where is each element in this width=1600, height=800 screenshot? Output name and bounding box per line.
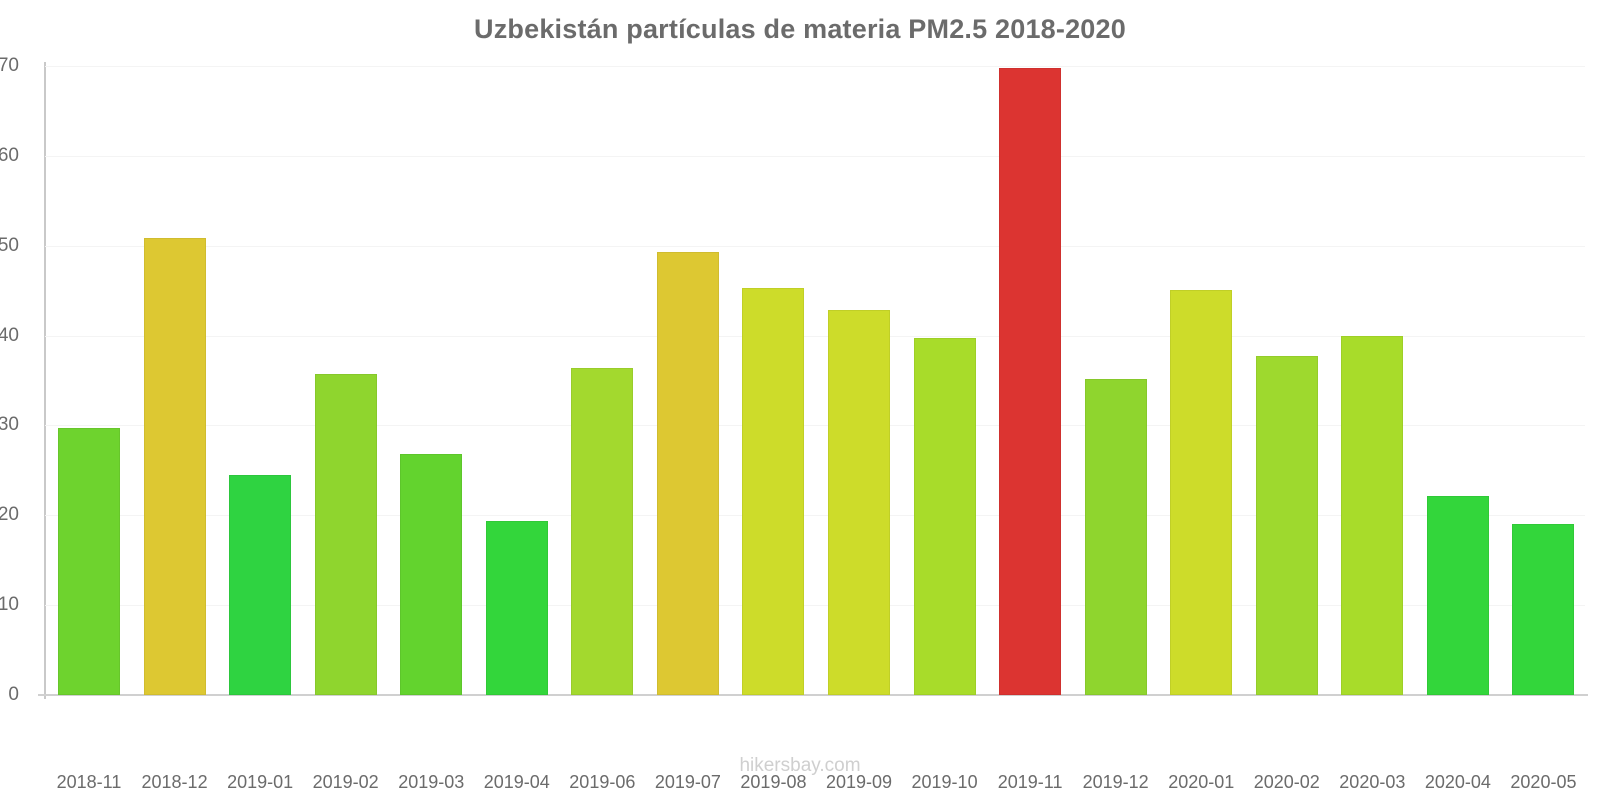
y-axis-tick-label: 70 bbox=[0, 55, 19, 77]
bar[interactable] bbox=[229, 475, 291, 695]
bar[interactable] bbox=[1256, 356, 1318, 695]
chart-page: Uzbekistán partículas de materia PM2.5 2… bbox=[0, 0, 1600, 800]
page-title: Uzbekistán partículas de materia PM2.5 2… bbox=[0, 14, 1600, 45]
y-axis-tick-label: 10 bbox=[0, 594, 19, 616]
gridline bbox=[45, 156, 1585, 157]
gridline bbox=[45, 66, 1585, 67]
bar[interactable] bbox=[571, 368, 633, 695]
bar[interactable] bbox=[999, 68, 1061, 695]
bar[interactable] bbox=[914, 338, 976, 695]
bar[interactable] bbox=[657, 252, 719, 695]
y-axis-tick-label: 0 bbox=[0, 684, 19, 706]
bar[interactable] bbox=[315, 374, 377, 695]
bar[interactable] bbox=[1170, 290, 1232, 695]
bar[interactable] bbox=[486, 521, 548, 695]
y-axis-tick-label: 40 bbox=[0, 325, 19, 347]
bar[interactable] bbox=[58, 428, 120, 695]
bar[interactable] bbox=[1341, 336, 1403, 695]
y-axis-tick-label: 20 bbox=[0, 504, 19, 526]
bar[interactable] bbox=[1512, 524, 1574, 695]
bar[interactable] bbox=[1427, 496, 1489, 695]
plot-area: 010203040506070 2018-112018-122019-01201… bbox=[45, 66, 1585, 695]
y-axis-tick-label: 30 bbox=[0, 414, 19, 436]
bar[interactable] bbox=[144, 238, 206, 695]
bar[interactable] bbox=[1085, 379, 1147, 695]
bar[interactable] bbox=[742, 288, 804, 695]
gridline bbox=[45, 246, 1585, 247]
y-axis-tick-label: 50 bbox=[0, 235, 19, 257]
bar[interactable] bbox=[400, 454, 462, 695]
footer-credit: hikersbay.com bbox=[0, 755, 1600, 777]
y-axis-tick-label: 60 bbox=[0, 145, 19, 167]
bar[interactable] bbox=[828, 310, 890, 695]
